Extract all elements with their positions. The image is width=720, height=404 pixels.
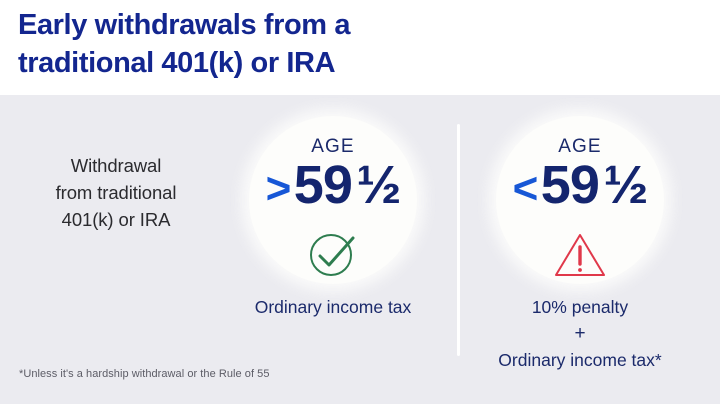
source-account-label-line-1: Withdrawal <box>10 152 222 179</box>
page-title: Early withdrawals from a traditional 401… <box>18 6 578 82</box>
check-circle-icon <box>305 228 361 280</box>
outcome-line-under-3: Ordinary income tax* <box>465 347 695 373</box>
scenario-column-under-age: AGE < 59 ½ 10% penalty + Ordinary income… <box>465 116 695 284</box>
column-divider <box>457 124 460 356</box>
age-number-under: 59 <box>541 158 599 212</box>
source-account-label: Withdrawal from traditional 401(k) or IR… <box>10 152 222 233</box>
outcome-caption-under: 10% penalty + Ordinary income tax* <box>465 294 695 373</box>
outcome-line-under-2: + <box>465 320 695 347</box>
less-than-operator: < <box>513 167 537 211</box>
greater-than-operator: > <box>266 167 290 211</box>
page-title-line-1: Early withdrawals from a <box>18 6 578 44</box>
outcome-caption-over: Ordinary income tax <box>218 294 448 320</box>
source-account-label-line-3: 401(k) or IRA <box>10 206 222 233</box>
source-account-label-line-2: from traditional <box>10 179 222 206</box>
warning-triangle-icon <box>552 228 608 280</box>
age-fraction-over: ½ <box>356 158 400 212</box>
footnote: *Unless it's a hardship withdrawal or th… <box>19 368 270 380</box>
age-bubble-under: AGE < 59 ½ <box>496 116 664 284</box>
age-fraction-under: ½ <box>603 158 647 212</box>
age-threshold-over: > 59 ½ <box>227 158 439 212</box>
outcome-line-over-1: Ordinary income tax <box>218 294 448 320</box>
page-title-line-2: traditional 401(k) or IRA <box>18 44 578 82</box>
age-threshold-under: < 59 ½ <box>474 158 686 212</box>
age-number-over: 59 <box>294 158 352 212</box>
age-bubble-over: AGE > 59 ½ <box>249 116 417 284</box>
outcome-line-under-1: 10% penalty <box>465 294 695 320</box>
infographic-root: Early withdrawals from a traditional 401… <box>0 0 720 404</box>
scenario-column-over-age: AGE > 59 ½ Ordinary income tax <box>218 116 448 284</box>
title-band: Early withdrawals from a traditional 401… <box>0 0 720 95</box>
